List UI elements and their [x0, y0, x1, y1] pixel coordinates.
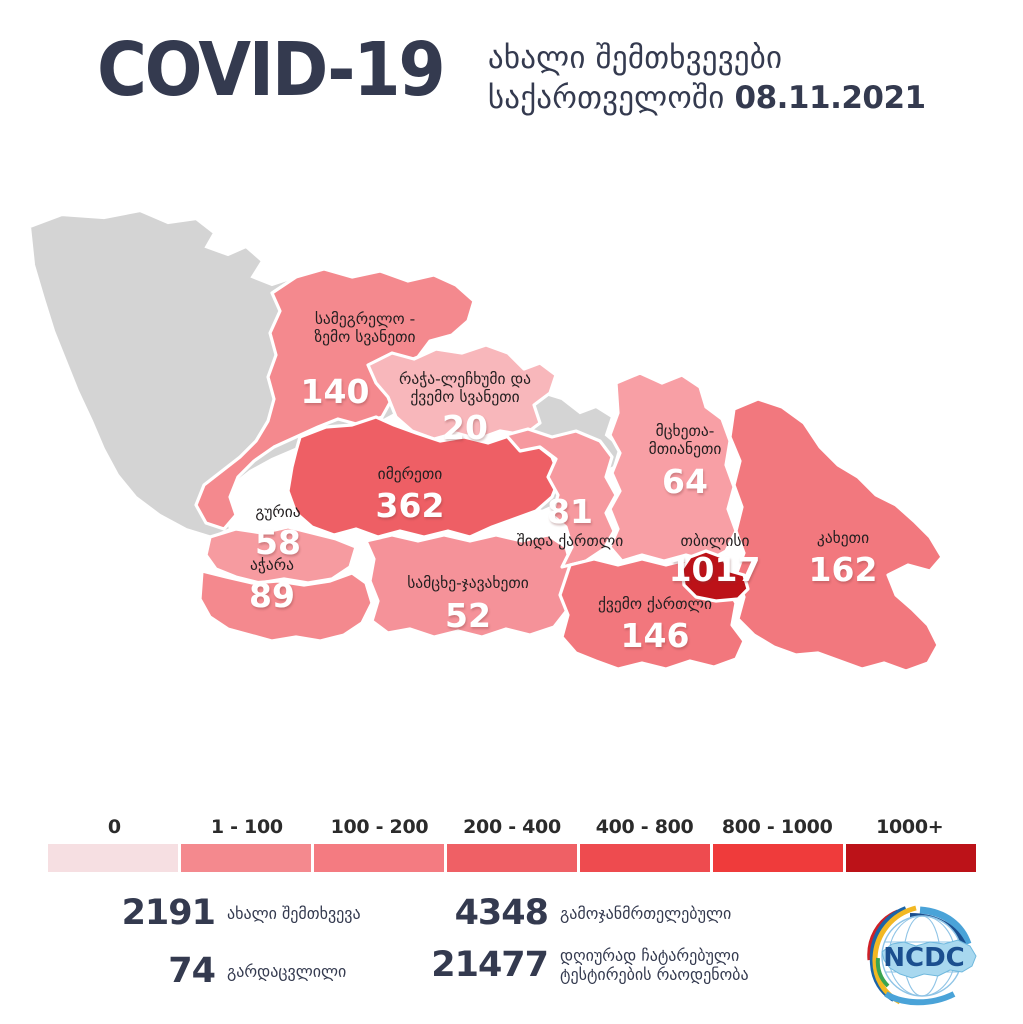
- legend-label-1: 1 - 100: [181, 816, 314, 838]
- title-row: COVID-19 ახალი შემთხვევები საქართველოში …: [0, 34, 1023, 118]
- stat-recovered-value: 4348: [430, 893, 548, 933]
- stat-tests-label: დღიურად ჩატარებული ტესტირების რაოდენობა: [560, 946, 749, 984]
- region-shape-adjara[interactable]: [200, 571, 372, 641]
- region-shape-kakheti[interactable]: [730, 399, 942, 671]
- stat-new-cases-label: ახალი შემთხვევა: [227, 904, 361, 923]
- subtitle-block: ახალი შემთხვევები საქართველოში 08.11.202…: [488, 34, 926, 118]
- region-shape-mtskheta-mtianeti[interactable]: [610, 373, 736, 561]
- stat-new-cases-value: 2191: [105, 893, 215, 933]
- georgia-choropleth-map: სამეგრელო - ზემო სვანეთი 140 რაჭა-ლეჩხუმ…: [0, 185, 1023, 775]
- legend-label-3: 200 - 400: [446, 816, 579, 838]
- ncdc-logo: NCDC: [858, 898, 990, 1010]
- legend: 0 1 - 100 100 - 200 200 - 400 400 - 800 …: [48, 816, 976, 872]
- subtitle-line-2: საქართველოში 08.11.2021: [488, 78, 926, 118]
- stat-new-cases: 2191 ახალი შემთხვევა: [105, 893, 361, 933]
- stat-deaths: 74 გარდაცვლილი: [105, 951, 346, 991]
- stat-tests-label-line2: ტესტირების რაოდენობა: [560, 965, 749, 984]
- logo-text: NCDC: [883, 943, 965, 973]
- stat-recovered-label: გამოჯანმრთელებული: [560, 904, 731, 923]
- legend-swatch-6: [846, 844, 976, 872]
- stat-deaths-label: გარდაცვლილი: [227, 962, 346, 981]
- legend-swatch-0: [48, 844, 178, 872]
- region-shape-samtskhe-javakheti[interactable]: [366, 535, 572, 637]
- page-title: COVID-19: [97, 34, 443, 106]
- stat-recovered: 4348 გამოჯანმრთელებული: [430, 893, 731, 933]
- subtitle-line-1: ახალი შემთხვევები: [488, 38, 926, 78]
- legend-swatch-5: [713, 844, 843, 872]
- legend-color-bar: [48, 844, 976, 872]
- stat-deaths-value: 74: [105, 951, 215, 991]
- region-shape-tbilisi[interactable]: [682, 551, 748, 601]
- legend-label-4: 400 - 800: [578, 816, 711, 838]
- subtitle-country: საქართველოში: [488, 80, 725, 116]
- legend-swatch-4: [580, 844, 710, 872]
- infographic-page: COVID-19 ახალი შემთხვევები საქართველოში …: [0, 0, 1023, 1024]
- legend-label-6: 1000+: [843, 816, 976, 838]
- legend-labels: 0 1 - 100 100 - 200 200 - 400 400 - 800 …: [48, 816, 976, 838]
- legend-swatch-2: [314, 844, 444, 872]
- legend-swatch-3: [447, 844, 577, 872]
- legend-swatch-1: [181, 844, 311, 872]
- report-date: 08.11.2021: [735, 80, 926, 116]
- stat-tests: 21477 დღიურად ჩატარებული ტესტირების რაოდ…: [430, 945, 749, 985]
- stat-tests-value: 21477: [430, 945, 548, 985]
- stat-tests-label-line1: დღიურად ჩატარებული: [560, 946, 739, 965]
- legend-label-2: 100 - 200: [313, 816, 446, 838]
- legend-label-0: 0: [48, 816, 181, 838]
- legend-label-5: 800 - 1000: [711, 816, 844, 838]
- header: COVID-19 ახალი შემთხვევები საქართველოში …: [0, 34, 1023, 164]
